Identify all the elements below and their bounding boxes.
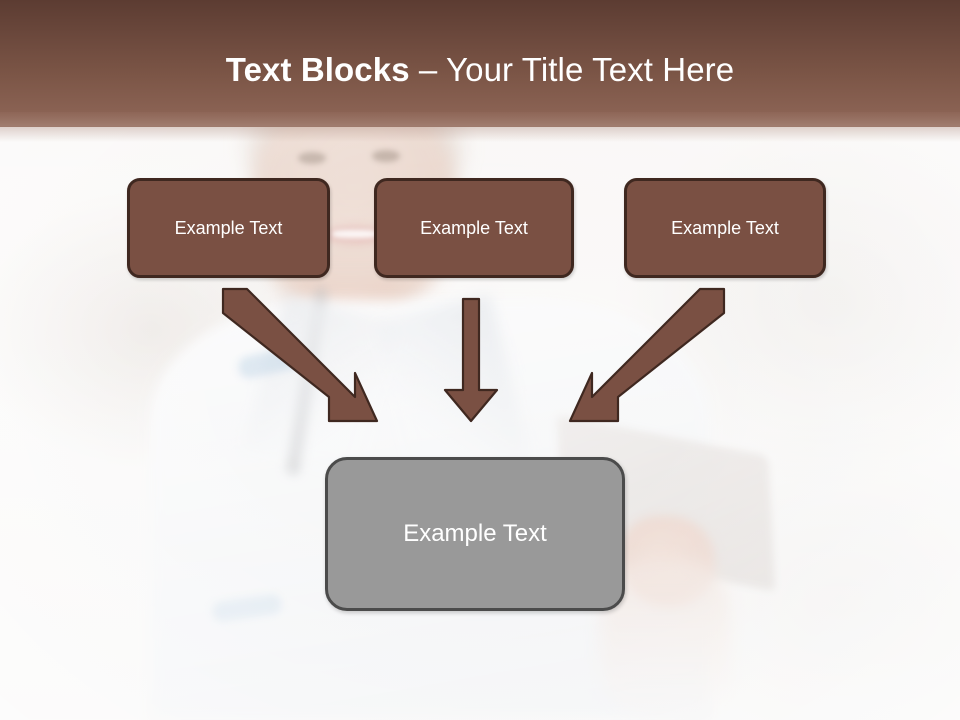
page-title-bold: Text Blocks: [226, 51, 410, 88]
background-teeth: [332, 230, 378, 238]
result-block[interactable]: Example Text: [325, 457, 625, 611]
slide-canvas: Text Blocks – Your Title Text Here Examp…: [0, 0, 960, 720]
background-eye-left: [298, 152, 326, 164]
page-title: Text Blocks – Your Title Text Here: [0, 50, 960, 90]
result-block-label: Example Text: [403, 520, 547, 548]
background-eye-right: [372, 150, 400, 162]
text-block-1[interactable]: Example Text: [127, 178, 330, 278]
page-title-regular: – Your Title Text Here: [410, 51, 735, 88]
text-block-3[interactable]: Example Text: [624, 178, 826, 278]
text-block-2-label: Example Text: [420, 218, 528, 239]
text-block-1-label: Example Text: [175, 218, 283, 239]
text-block-2[interactable]: Example Text: [374, 178, 574, 278]
title-bar: Text Blocks – Your Title Text Here: [0, 0, 960, 127]
text-block-3-label: Example Text: [671, 218, 779, 239]
